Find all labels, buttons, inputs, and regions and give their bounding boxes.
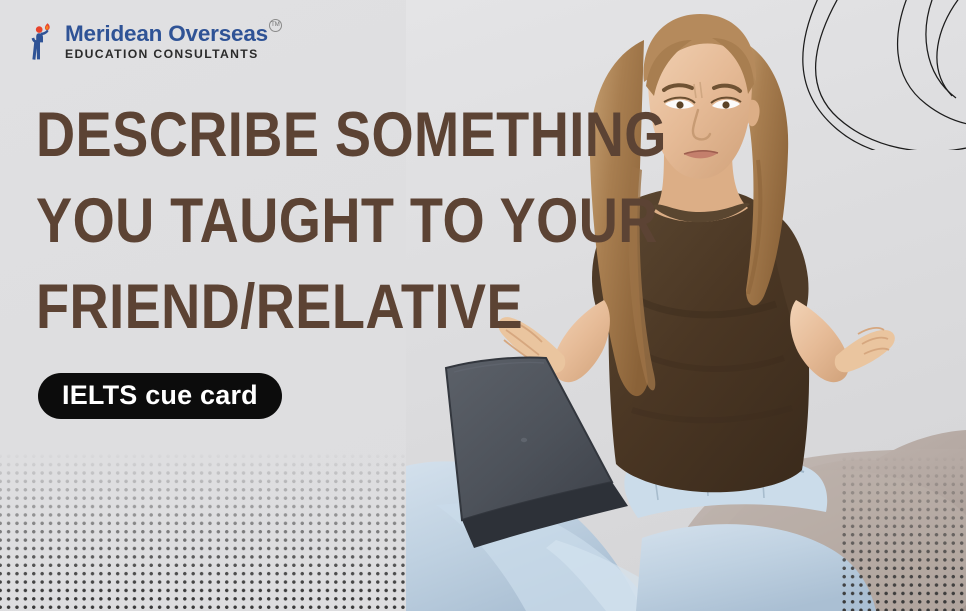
halftone-dot-gradient-left-icon [0, 452, 441, 611]
headline-line-1: DESCRIBE SOMETHING [36, 92, 569, 178]
logo-title: Meridean Overseas [65, 23, 268, 46]
halftone-dot-gradient-right-icon [840, 455, 966, 611]
logo-subtitle: EDUCATION CONSULTANTS [65, 47, 268, 61]
headline-line-2: YOU TAUGHT TO YOUR [36, 178, 569, 264]
page-title: DESCRIBE SOMETHING YOU TAUGHT TO YOUR FR… [36, 92, 656, 350]
torch-bearer-figure-icon [30, 22, 58, 60]
abstract-line-curves-icon [786, 0, 966, 150]
status-badge: IELTS cue card [38, 373, 282, 419]
banner-root: Meridean Overseas EDUCATION CONSULTANTS … [0, 0, 966, 611]
brand-logo[interactable]: Meridean Overseas EDUCATION CONSULTANTS … [30, 21, 268, 61]
trademark-icon: TM [269, 19, 282, 32]
headline-line-3: FRIEND/RELATIVE [36, 264, 569, 350]
